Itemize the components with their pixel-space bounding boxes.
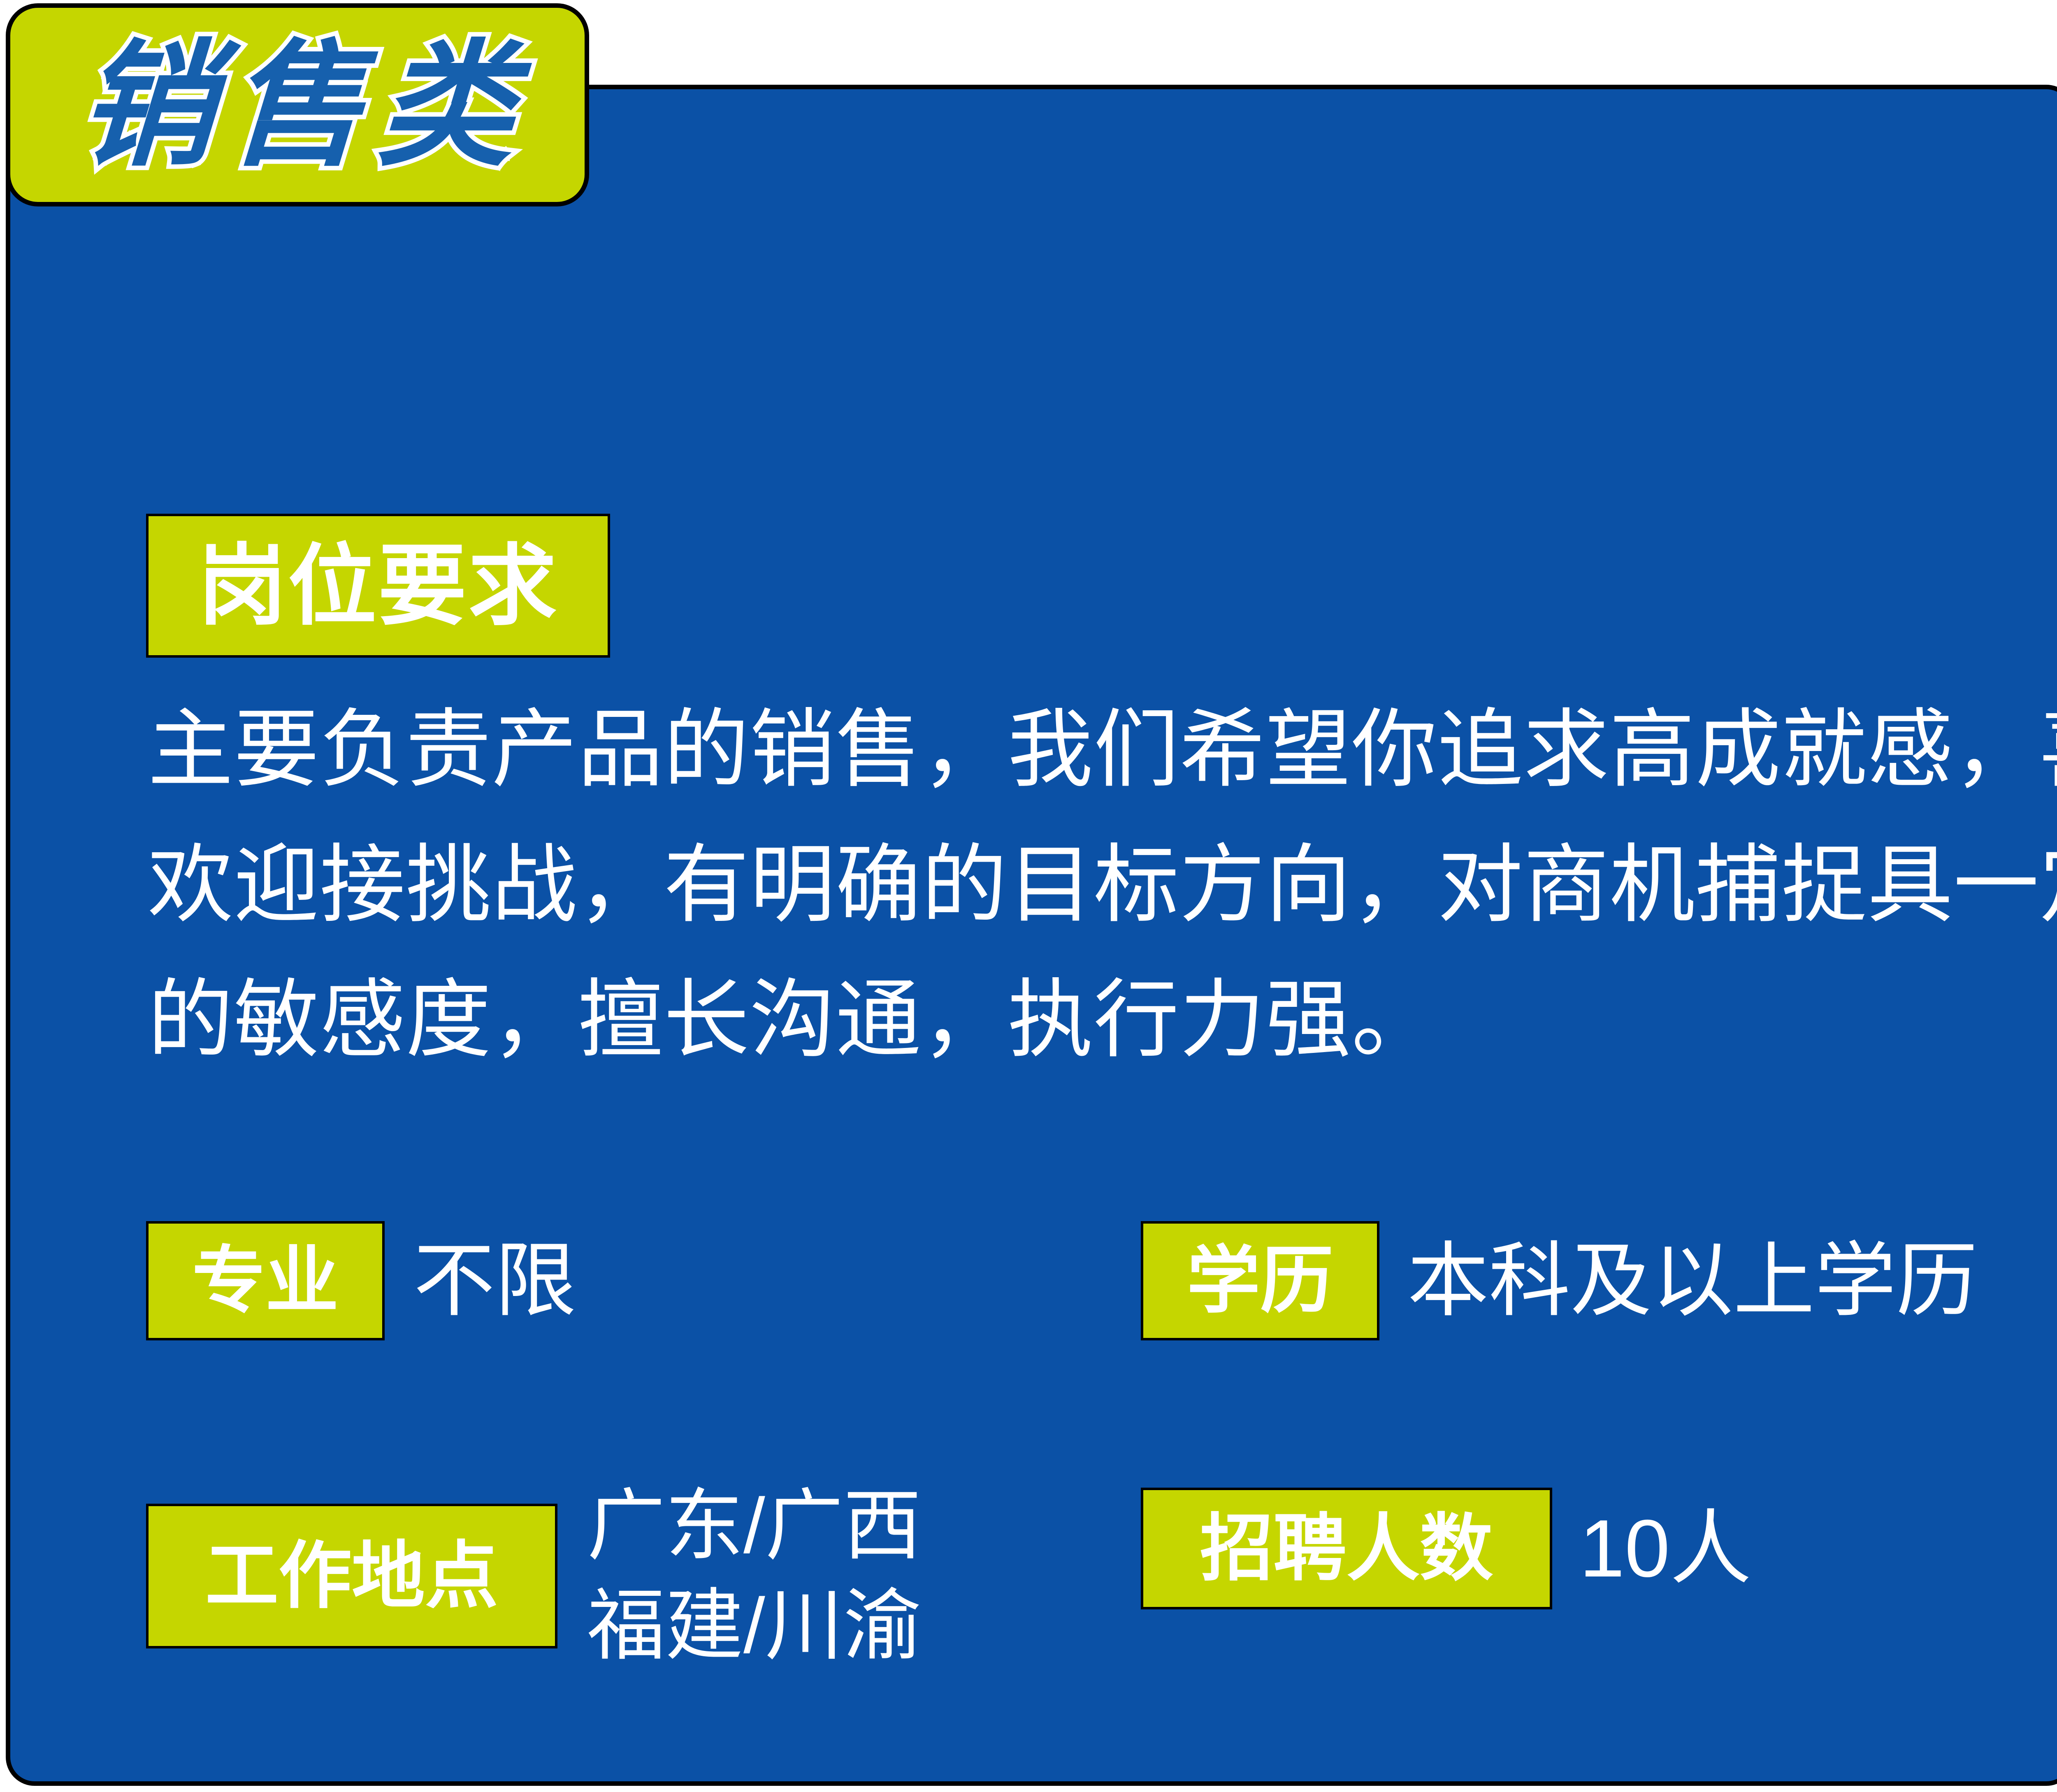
field-education-label-chip: 学历: [1141, 1221, 1379, 1340]
category-tab-title: 销售类: [63, 37, 532, 173]
field-major-label: 专业: [192, 1244, 339, 1317]
field-headcount-value: 10人: [1579, 1496, 1751, 1600]
field-major-value: 不限: [413, 1229, 576, 1333]
field-location-label-chip: 工作地点: [146, 1504, 557, 1648]
field-location-value-line-2: 福建/川渝: [587, 1576, 922, 1676]
field-location-value: 广东/广西 福建/川渝: [587, 1476, 922, 1676]
section-header-requirements: 岗位要求: [146, 514, 610, 658]
field-education: 学历 本科及以上学历: [1141, 1221, 1978, 1340]
field-education-value: 本科及以上学历: [1407, 1229, 1978, 1333]
section-header-label: 岗位要求: [198, 542, 558, 630]
field-major-value-line-1: 不限: [413, 1229, 576, 1333]
category-tab: 销售类: [6, 3, 589, 206]
field-major-label-chip: 专业: [146, 1221, 385, 1340]
field-education-label: 学历: [1187, 1244, 1333, 1317]
description-line-1: 主要负责产品的销售，我们希望你追求高成就感，喜: [148, 682, 1970, 818]
field-headcount-value-line-1: 10人: [1579, 1496, 1751, 1600]
field-headcount-label-chip: 招聘人数: [1141, 1488, 1552, 1609]
field-location: 工作地点 广东/广西 福建/川渝: [146, 1476, 922, 1676]
field-education-value-line-1: 本科及以上学历: [1407, 1229, 1978, 1333]
field-location-value-line-1: 广东/广西: [587, 1476, 922, 1576]
field-location-label: 工作地点: [205, 1539, 498, 1613]
field-headcount: 招聘人数 10人: [1141, 1488, 1751, 1609]
description-line-3: 的敏感度，擅长沟通，执行力强。: [148, 953, 1970, 1088]
job-posting-card: 岗位要求 主要负责产品的销售，我们希望你追求高成就感，喜 欢迎接挑战，有明确的目…: [6, 85, 2057, 1786]
description-line-2: 欢迎接挑战，有明确的目标方向，对商机捕捉具一定: [148, 818, 1970, 953]
field-headcount-label: 招聘人数: [1200, 1512, 1493, 1585]
job-description-text: 主要负责产品的销售，我们希望你追求高成就感，喜 欢迎接挑战，有明确的目标方向，对…: [148, 682, 1970, 1088]
field-major: 专业 不限: [146, 1221, 576, 1340]
